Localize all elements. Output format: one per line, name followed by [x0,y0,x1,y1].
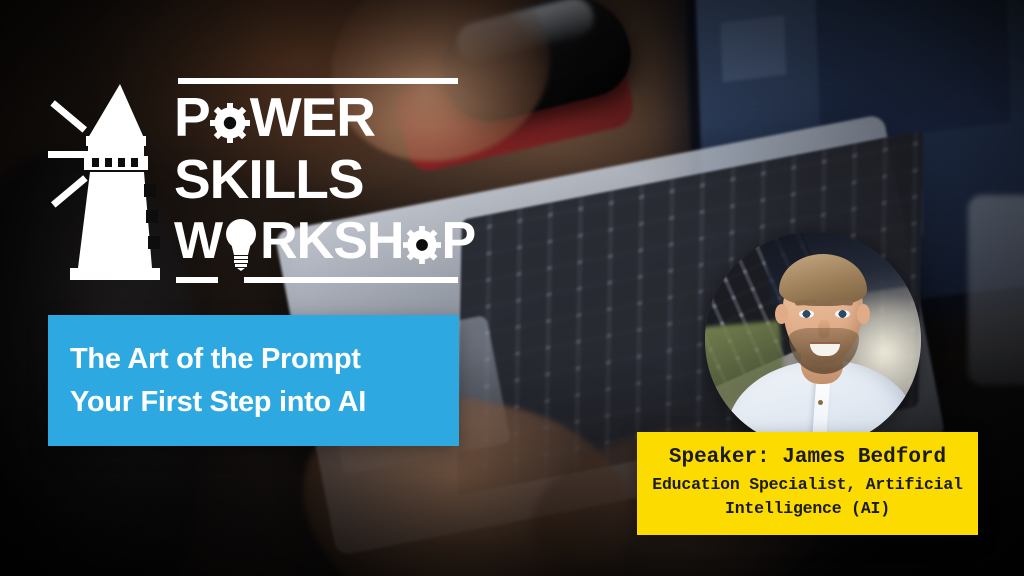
logo-text-p2: P [441,215,475,267]
lightbulb-icon [222,212,260,271]
logo-text-p: P [174,90,210,145]
speaker-avatar [705,232,921,448]
title-line-1: The Art of the Prompt [70,344,437,374]
logo-text-rksh: RKSH [260,215,403,267]
brand-logo: P [48,78,458,290]
gear-icon-2 [403,215,441,267]
logo-text-skills: SKILLS [174,152,364,207]
logo-rule-bottom-left [176,277,218,283]
logo-rule-bottom-right [244,277,458,283]
avatar-shirt-button-1 [818,400,823,405]
avatar-ear-left [775,304,788,324]
speaker-role-line-2: Intelligence (AI) [725,497,890,521]
logo-line-power: P [174,86,464,148]
lighthouse-icon [48,80,166,284]
logo-wordmark: P [174,86,464,274]
title-banner: The Art of the Prompt Your First Step in… [48,315,459,446]
logo-line-workshop: W RKSH [174,210,464,272]
logo-rule-top [178,78,458,84]
title-line-2: Your First Step into AI [70,387,437,417]
slide-canvas: P [0,0,1024,576]
logo-text-wer: WER [250,90,375,145]
speaker-role-line-1: Education Specialist, Artificial [652,473,962,497]
gear-icon [210,90,250,145]
logo-text-w: W [174,215,222,267]
speaker-name: Speaker: James Bedford [669,444,946,472]
avatar-ear-right [857,304,870,324]
avatar-eye-left [799,310,814,318]
logo-line-skills: SKILLS [174,148,464,210]
avatar-eye-right [835,310,850,318]
speaker-banner: Speaker: James Bedford Education Special… [637,432,978,535]
